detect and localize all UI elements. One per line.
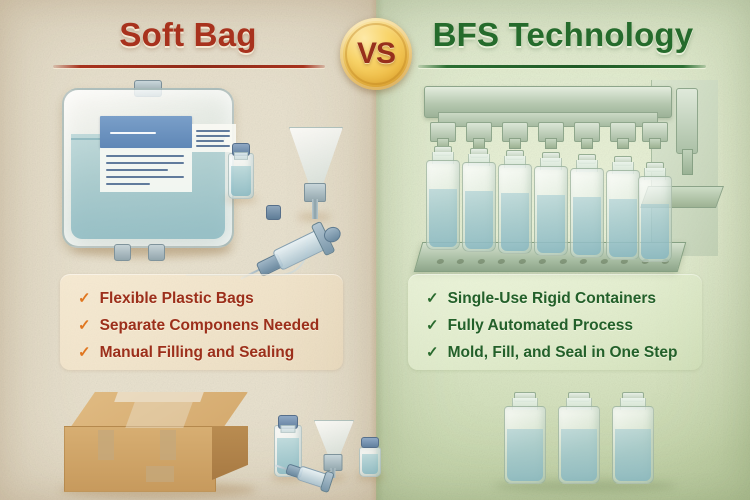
list-item-label: Flexible Plastic Bags: [100, 290, 254, 308]
fill-nozzle: [574, 122, 600, 142]
fill-nozzle: [502, 122, 528, 142]
list-item-label: Manual Filling and Sealing: [100, 344, 295, 362]
list-item: ✓ Flexible Plastic Bags: [78, 290, 325, 308]
check-icon: ✓: [426, 291, 439, 306]
box-front-face: [64, 426, 216, 492]
vs-badge-label: VS: [357, 37, 395, 71]
list-item-label: Mold, Fill, and Seal in One Step: [448, 344, 678, 362]
left-title-underline: [53, 65, 325, 68]
iv-bag-port-right: [148, 244, 165, 261]
left-title: Soft Bag: [0, 16, 376, 54]
bfs-bottle: [638, 162, 672, 262]
iv-bag-label-body: [100, 148, 192, 192]
glass-vial-illustration: [228, 143, 254, 199]
bfs-bottle: [504, 392, 546, 484]
bfs-filling-machine-illustration: [424, 86, 714, 256]
left-feature-list: ✓ Flexible Plastic Bags ✓ Separate Compo…: [60, 274, 343, 370]
check-icon: ✓: [78, 345, 91, 360]
bfs-bottle: [606, 156, 640, 260]
vs-badge: VS: [340, 18, 412, 90]
bfs-bottle: [498, 150, 532, 254]
bfs-bottle: [558, 392, 600, 484]
funnel-illustration: [289, 127, 341, 219]
bfs-bottles-bottom-group: [500, 388, 670, 488]
fill-nozzle: [538, 122, 564, 142]
right-title: BFS Technology: [376, 16, 750, 54]
box-side-face: [212, 426, 248, 480]
cardboard-shipping-box-illustration: [64, 392, 254, 490]
iv-bag-port-left: [114, 244, 131, 261]
list-item-label: Fully Automated Process: [448, 317, 633, 335]
list-item: ✓ Manual Filling and Sealing: [78, 344, 325, 362]
iv-bag-label-header: [100, 116, 192, 148]
bfs-bottle: [570, 154, 604, 258]
check-icon: ✓: [78, 318, 91, 333]
right-title-underline: [418, 65, 706, 68]
right-feature-list: ✓ Single-Use Rigid Containers ✓ Fully Au…: [408, 274, 702, 370]
list-item: ✓ Single-Use Rigid Containers: [426, 290, 684, 308]
fill-nozzle: [610, 122, 636, 142]
fill-nozzle: [430, 122, 456, 142]
bfs-bottle: [426, 146, 460, 250]
list-item: ✓ Mold, Fill, and Seal in One Step: [426, 344, 684, 362]
cap-container-illustration: [359, 437, 381, 477]
bfs-bottle: [612, 392, 654, 484]
list-item: ✓ Fully Automated Process: [426, 317, 684, 335]
fill-nozzle: [466, 122, 492, 142]
bfs-bottle: [462, 148, 496, 252]
fill-nozzle: [642, 122, 668, 142]
list-item-label: Separate Componens Needed: [100, 317, 320, 335]
check-icon: ✓: [426, 318, 439, 333]
check-icon: ✓: [78, 291, 91, 306]
iv-fluid-bag-illustration: [62, 88, 234, 248]
bfs-bottle: [534, 152, 568, 256]
list-item-label: Single-Use Rigid Containers: [448, 290, 656, 308]
machine-nozzle-arm: [676, 88, 698, 154]
rubber-stopper-illustration: [266, 205, 281, 220]
check-icon: ✓: [426, 345, 439, 360]
infographic-canvas: Soft Bag BFS Technology VS ✓ Flexible Pl…: [0, 0, 750, 500]
list-item: ✓ Separate Componens Needed: [78, 317, 325, 335]
